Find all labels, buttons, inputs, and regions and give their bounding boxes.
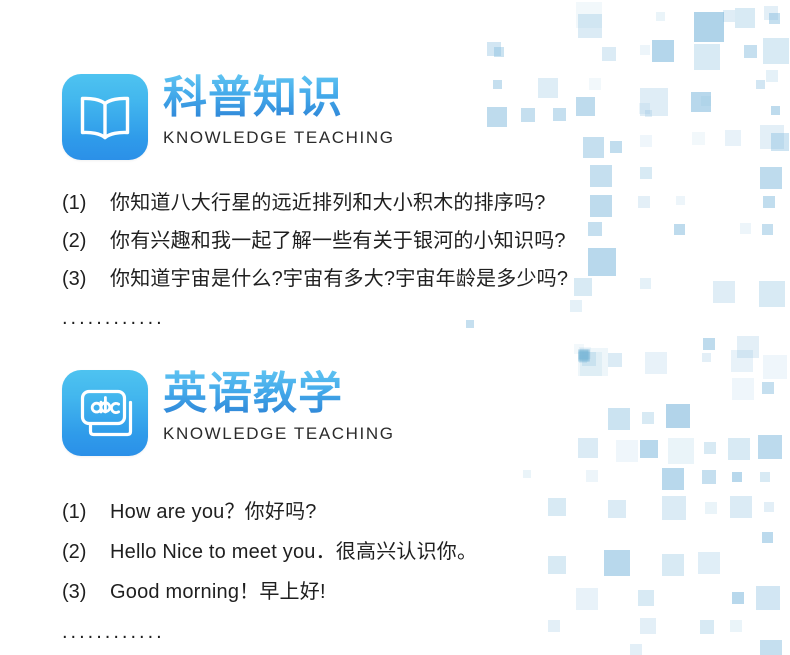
question-list-english: (1) How are you？你好吗? (2) Hello Nice to m…: [0, 492, 790, 612]
list-item-number: (2): [62, 532, 110, 572]
mosaic-tile: [656, 12, 665, 21]
list-item: (3) 你知道宇宙是什么?宇宙有多大?宇宙年龄是多少吗?: [62, 260, 790, 298]
mosaic-tile: [574, 344, 584, 354]
section-subtitle: KNOWLEDGE TEACHING: [163, 424, 395, 444]
list-item-number: (3): [62, 260, 110, 298]
list-item-text: Hello Nice to meet you．很高兴认识你。: [110, 532, 477, 572]
mosaic-tile: [764, 6, 778, 20]
mosaic-tile: [487, 42, 501, 56]
open-book-icon: [62, 74, 148, 160]
mosaic-tile: [723, 10, 735, 22]
section-header: 科普知识 KNOWLEDGE TEACHING: [0, 60, 790, 164]
list-item: (2) Hello Nice to meet you．很高兴认识你。: [62, 532, 790, 572]
list-item-number: (1): [62, 492, 110, 532]
question-list-knowledge: (1) 你知道八大行星的远近排列和大小积木的排序吗? (2) 你有兴趣和我一起了…: [0, 184, 790, 298]
mosaic-tile: [744, 45, 757, 58]
list-item: (1) How are you？你好吗?: [62, 492, 790, 532]
ellipsis-continuation: ............: [0, 308, 790, 328]
section-subtitle: KNOWLEDGE TEACHING: [163, 128, 395, 148]
mosaic-tile: [602, 47, 616, 61]
section-title-block: 科普知识 KNOWLEDGE TEACHING: [163, 72, 395, 148]
mosaic-tile: [694, 12, 724, 42]
list-item-text: Good morning！早上好!: [110, 572, 326, 612]
mosaic-tile: [576, 2, 602, 28]
list-item-text: How are you？你好吗?: [110, 492, 317, 532]
list-item-number: (2): [62, 222, 110, 260]
mosaic-tile: [652, 40, 674, 62]
list-item: (2) 你有兴趣和我一起了解一些有关于银河的小知识吗?: [62, 222, 790, 260]
section-title: 科普知识: [163, 72, 395, 124]
list-item: (1) 你知道八大行星的远近排列和大小积木的排序吗?: [62, 184, 790, 222]
ellipsis-continuation: ............: [0, 622, 790, 642]
mosaic-tile: [703, 338, 715, 350]
section-title: 英语教学: [163, 368, 395, 420]
list-item-text: 你有兴趣和我一起了解一些有关于银河的小知识吗?: [110, 222, 566, 260]
list-item: (3) Good morning！早上好!: [62, 572, 790, 612]
section-knowledge: 科普知识 KNOWLEDGE TEACHING (1) 你知道八大行星的远近排列…: [0, 60, 790, 328]
list-item-text: 你知道八大行星的远近排列和大小积木的排序吗?: [110, 184, 546, 222]
mosaic-tile: [735, 8, 755, 28]
mosaic-tile: [630, 644, 642, 655]
list-item-number: (3): [62, 572, 110, 612]
mosaic-tile: [578, 14, 602, 38]
mosaic-tile: [760, 640, 782, 655]
list-item-text: 你知道宇宙是什么?宇宙有多大?宇宙年龄是多少吗?: [110, 260, 568, 298]
list-item-number: (1): [62, 184, 110, 222]
section-header: 英语教学 KNOWLEDGE TEACHING: [0, 356, 790, 460]
section-title-block: 英语教学 KNOWLEDGE TEACHING: [163, 368, 395, 444]
mosaic-tile: [640, 45, 650, 55]
mosaic-tile: [737, 336, 759, 358]
abc-card-icon: [62, 370, 148, 456]
mosaic-tile: [494, 47, 504, 57]
section-english: 英语教学 KNOWLEDGE TEACHING (1) How are you？…: [0, 356, 790, 642]
mosaic-tile: [769, 13, 780, 24]
poster-root: 科普知识 KNOWLEDGE TEACHING (1) 你知道八大行星的远近排列…: [0, 0, 790, 655]
